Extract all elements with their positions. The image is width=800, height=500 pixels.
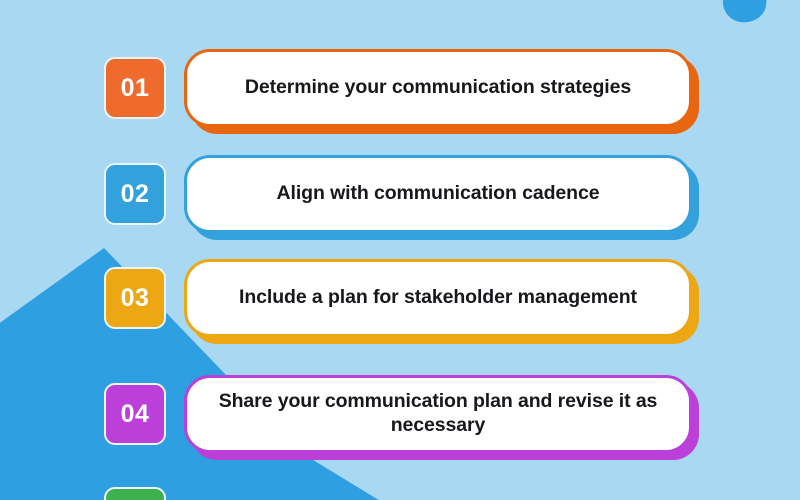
- step-badge-01: 01: [104, 57, 166, 119]
- step-number-label: 03: [121, 286, 150, 311]
- step-card-03[interactable]: Include a plan for stakeholder managemen…: [184, 259, 692, 337]
- step-row-partial[interactable]: [104, 487, 166, 500]
- step-badge-03: 03: [104, 267, 166, 329]
- step-row[interactable]: 02 Align with communication cadence: [104, 162, 692, 226]
- step-number-label: 01: [121, 76, 150, 101]
- step-card-wrapper: Include a plan for stakeholder managemen…: [184, 259, 692, 337]
- step-card-02[interactable]: Align with communication cadence: [184, 155, 692, 233]
- steps-list: 01 Determine your communication strategi…: [0, 0, 800, 500]
- step-card-wrapper: Align with communication cadence: [184, 155, 692, 233]
- step-number-label: 02: [121, 182, 150, 207]
- step-card-text: Determine your communication strategies: [245, 76, 631, 100]
- step-number-label: 04: [121, 402, 150, 427]
- step-badge-02: 02: [104, 163, 166, 225]
- step-card-wrapper: Share your communication plan and revise…: [184, 375, 692, 453]
- infographic-canvas: 01 Determine your communication strategi…: [0, 0, 800, 500]
- step-card-01[interactable]: Determine your communication strategies: [184, 49, 692, 127]
- step-row[interactable]: 03 Include a plan for stakeholder manage…: [104, 266, 692, 330]
- step-card-text: Include a plan for stakeholder managemen…: [239, 286, 637, 310]
- step-card-text: Share your communication plan and revise…: [213, 390, 663, 438]
- step-card-04[interactable]: Share your communication plan and revise…: [184, 375, 692, 453]
- step-badge-05: [104, 487, 166, 500]
- step-card-text: Align with communication cadence: [277, 182, 600, 206]
- step-row[interactable]: 01 Determine your communication strategi…: [104, 56, 692, 120]
- step-card-wrapper: Determine your communication strategies: [184, 49, 692, 127]
- step-badge-04: 04: [104, 383, 166, 445]
- step-row[interactable]: 04 Share your communication plan and rev…: [104, 382, 692, 446]
